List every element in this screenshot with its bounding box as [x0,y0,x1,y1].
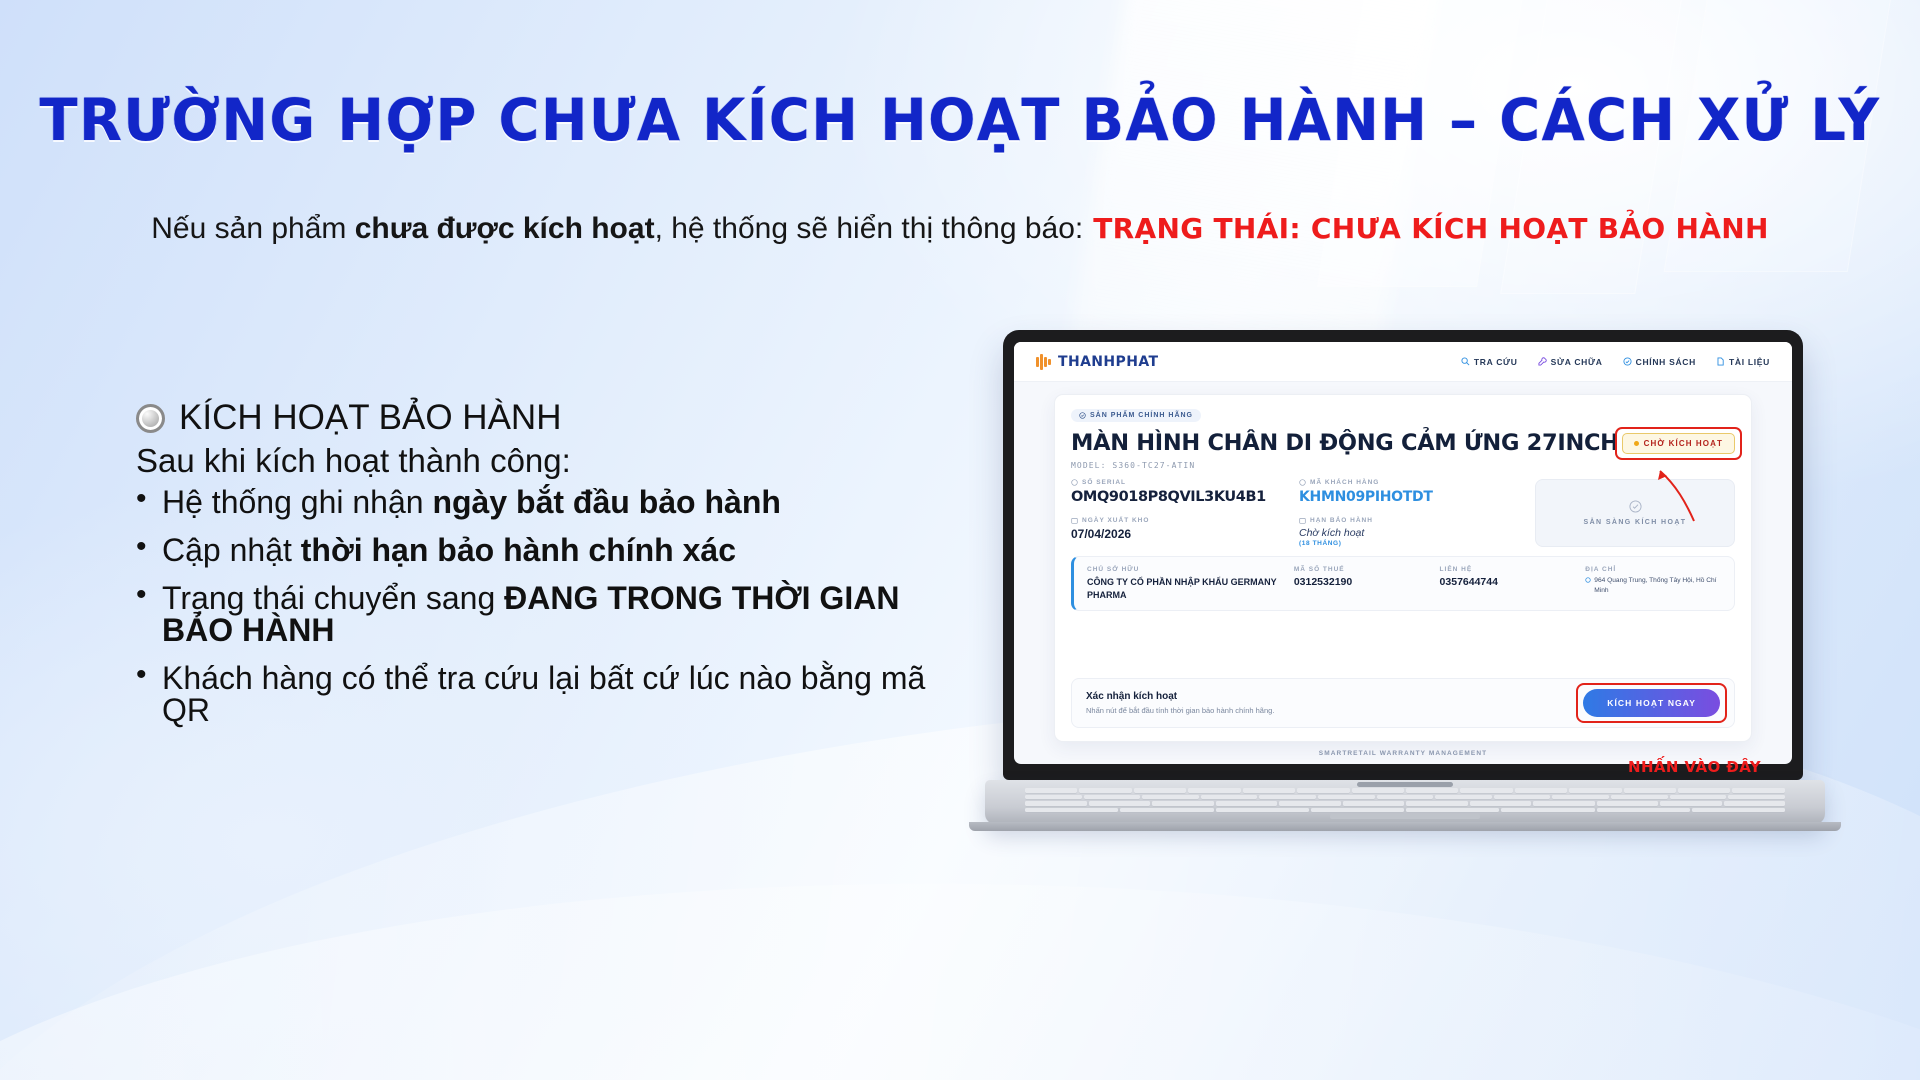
product-title-row: MÀN HÌNH CHÂN DI ĐỘNG CẢM ỨNG 27INCH MOD… [1071,431,1735,470]
contact-column: LIÊN HỆ 0357644744 [1440,566,1576,601]
left-content-column: KÍCH HOẠT BẢO HÀNH Sau khi kích hoạt thà… [136,398,946,742]
nav-label: SỬA CHỮA [1551,357,1603,367]
brand-name: THANHPHAT [1058,354,1158,370]
subtitle-emphasis: chưa được kích hoạt [355,212,655,245]
genuine-product-chip: SẢN PHẨM CHÍNH HÃNG [1071,409,1201,422]
field-label: CHỦ SỞ HỮU [1087,566,1284,573]
address-column: ĐỊA CHỈ 964 Quang Trung, Thống Tây Hội, … [1585,566,1721,601]
activation-benefits-list: Hệ thống ghi nhận ngày bắt đầu bảo hành … [136,486,946,726]
list-item: Trạng thái chuyển sang ĐANG TRONG THỜI G… [136,582,946,646]
app-nav: TRA CỨU SỬA CHỮA CHÍNH SÁCH TÀI LIỆU [1461,357,1770,367]
confirm-subtitle: Nhấn nút để bắt đầu tính thời gian bảo h… [1086,706,1274,715]
product-model: MODEL: S360-TC27-ATIN [1071,461,1619,470]
field-label: MÃ KHÁCH HÀNG [1299,479,1521,486]
laptop-base [985,780,1825,824]
app-header: THANHPHAT TRA CỨU SỬA CHỮA CHÍNH SÁCH [1014,342,1792,382]
nav-label: TÀI LIỆU [1729,357,1770,367]
field-ship-date: NGÀY XUẤT KHO 07/04/2026 [1071,517,1293,547]
calendar-icon [1071,517,1078,524]
bullet-text: Cập nhật [162,532,301,568]
field-label-text: NGÀY XUẤT KHO [1082,517,1149,524]
warranty-value: Chờ kích hoạt [1299,527,1521,539]
field-label-text: LIÊN HỆ [1440,566,1473,573]
field-label: NGÀY XUẤT KHO [1071,517,1293,524]
serial-value: OMQ9018P8QVIL3KU4B1 [1071,489,1293,505]
user-badge-icon [1299,479,1306,486]
calendar-icon [1299,517,1306,524]
address-value: 964 Quang Trung, Thống Tây Hội, Hồ Chí M… [1594,576,1721,595]
document-icon [1716,357,1725,366]
wrench-icon [1538,357,1547,366]
field-label-text: MÃ KHÁCH HÀNG [1310,479,1379,486]
nav-item-tra-cuu[interactable]: TRA CỨU [1461,357,1518,367]
field-label-text: MÃ SỐ THUẾ [1294,566,1345,573]
bullet-emphasis: thời hạn bảo hành chính xác [301,532,736,568]
nav-item-tai-lieu[interactable]: TÀI LIỆU [1716,357,1770,367]
laptop-keyboard [1025,788,1785,812]
nav-label: CHÍNH SÁCH [1636,357,1696,367]
annotation-arrow-to-badge [1636,463,1706,525]
laptop-base-front [969,822,1841,831]
warranty-note: (18 THÁNG) [1299,540,1521,547]
slide-headline: TRƯỜNG HỢP CHƯA KÍCH HOẠT BẢO HÀNH – CÁC… [0,86,1920,154]
cta-highlight-box [1576,683,1727,723]
field-label: HẠN BẢO HÀNH [1299,517,1521,524]
click-here-annotation: NHẤN VÀO ĐÂY [1628,758,1761,776]
location-pin-icon [1585,577,1591,583]
headline-text: TRƯỜNG HỢP CHƯA KÍCH HOẠT BẢO HÀNH – CÁC… [38,86,1881,154]
list-item: Khách hàng có thể tra cứu lại bất cứ lúc… [136,662,946,726]
bullet-text: Trạng thái chuyển sang [162,580,504,616]
subtitle-part-1: Nếu sản phẩm [151,212,354,245]
confirm-text-block: Xác nhận kích hoạt Nhấn nút để bắt đầu t… [1086,691,1274,715]
slide-subtitle: Nếu sản phẩm chưa được kích hoạt, hệ thố… [0,212,1920,246]
activation-section-title-text: KÍCH HOẠT BẢO HÀNH [179,398,561,438]
confirm-title: Xác nhận kích hoạt [1086,691,1274,702]
confirm-activation-strip: Xác nhận kích hoạt Nhấn nút để bắt đầu t… [1071,678,1735,728]
field-serial: SỐ SERIAL OMQ9018P8QVIL3KU4B1 [1071,479,1293,505]
thanhphat-logo-icon [1036,354,1051,370]
field-label: SỐ SERIAL [1071,479,1293,486]
brand-logo[interactable]: THANHPHAT [1036,354,1158,370]
field-label-text: CHỦ SỞ HỮU [1087,566,1139,573]
list-item: Hệ thống ghi nhận ngày bắt đầu bảo hành [136,486,946,518]
laptop-hinge [1357,782,1453,787]
subtitle-status-text: TRẠNG THÁI: CHƯA KÍCH HOẠT BẢO HÀNH [1093,212,1769,245]
shield-check-icon [1623,357,1632,366]
subtitle-part-2: , hệ thống sẽ hiển thị thông báo: [655,212,1084,245]
product-title-block: MÀN HÌNH CHÂN DI ĐỘNG CẢM ỨNG 27INCH MOD… [1071,431,1619,470]
activation-section-subtitle: Sau khi kích hoạt thành công: [136,442,946,480]
bullet-emphasis: ngày bắt đầu bảo hành [432,484,780,520]
contact-value: 0357644744 [1440,576,1576,588]
tag-icon [1071,479,1078,486]
details-grid: SỐ SERIAL OMQ9018P8QVIL3KU4B1 MÃ KHÁCH H… [1071,479,1521,547]
activation-section-title: KÍCH HOẠT BẢO HÀNH [136,398,946,438]
badge-highlight-box [1615,427,1742,460]
verified-icon [1079,412,1086,419]
nav-item-chinh-sach[interactable]: CHÍNH SÁCH [1623,357,1696,367]
warranty-card: SẢN PHẨM CHÍNH HÃNG MÀN HÌNH CHÂN DI ĐỘN… [1054,394,1752,742]
field-label-text: HẠN BẢO HÀNH [1310,517,1373,524]
field-label-text: ĐỊA CHỈ [1585,566,1616,573]
field-label: ĐỊA CHỈ [1585,566,1721,573]
field-warranty: HẠN BẢO HÀNH Chờ kích hoạt (18 THÁNG) [1299,517,1521,547]
cta-wrapper: KÍCH HOẠT NGAY [1583,689,1720,717]
field-label: LIÊN HỆ [1440,566,1576,573]
customer-code-value: KHMN09PIHOTDT [1299,489,1521,505]
laptop-lid: THANHPHAT TRA CỨU SỬA CHỮA CHÍNH SÁCH [1003,330,1803,780]
product-title: MÀN HÌNH CHÂN DI ĐỘNG CẢM ỨNG 27INCH [1071,431,1619,455]
owner-info-strip: CHỦ SỞ HỮU CÔNG TY CỔ PHẦN NHẬP KHẨU GER… [1071,556,1735,611]
laptop-screen: THANHPHAT TRA CỨU SỬA CHỮA CHÍNH SÁCH [1014,342,1792,764]
status-badge-wrapper: CHỜ KÍCH HOẠT [1622,433,1735,454]
circle-bullet-icon [136,404,165,433]
owner-column: CHỦ SỞ HỮU CÔNG TY CỔ PHẦN NHẬP KHẨU GER… [1087,566,1284,601]
ship-date-value: 07/04/2026 [1071,527,1293,541]
address-value-row: 964 Quang Trung, Thống Tây Hội, Hồ Chí M… [1585,576,1721,595]
owner-value: CÔNG TY CỔ PHẦN NHẬP KHẨU GERMANY PHARMA [1087,576,1284,601]
laptop-trackpad [1330,814,1480,819]
laptop-mockup: THANHPHAT TRA CỨU SỬA CHỮA CHÍNH SÁCH [985,330,1825,850]
app-stage: SẢN PHẨM CHÍNH HÃNG MÀN HÌNH CHÂN DI ĐỘN… [1014,382,1792,742]
field-label: MÃ SỐ THUẾ [1294,566,1430,573]
nav-item-sua-chua[interactable]: SỬA CHỮA [1538,357,1603,367]
chip-label: SẢN PHẨM CHÍNH HÃNG [1090,412,1193,419]
nav-label: TRA CỨU [1474,357,1518,367]
field-customer-code: MÃ KHÁCH HÀNG KHMN09PIHOTDT [1299,479,1521,505]
field-label-text: SỐ SERIAL [1082,479,1126,486]
tax-value: 0312532190 [1294,576,1430,588]
background-window-panes [1306,0,1920,367]
search-icon [1461,357,1470,366]
list-item: Cập nhật thời hạn bảo hành chính xác [136,534,946,566]
tax-column: MÃ SỐ THUẾ 0312532190 [1294,566,1430,601]
bullet-text: Khách hàng có thể tra cứu lại bất cứ lúc… [162,660,925,728]
bullet-text: Hệ thống ghi nhận [162,484,432,520]
